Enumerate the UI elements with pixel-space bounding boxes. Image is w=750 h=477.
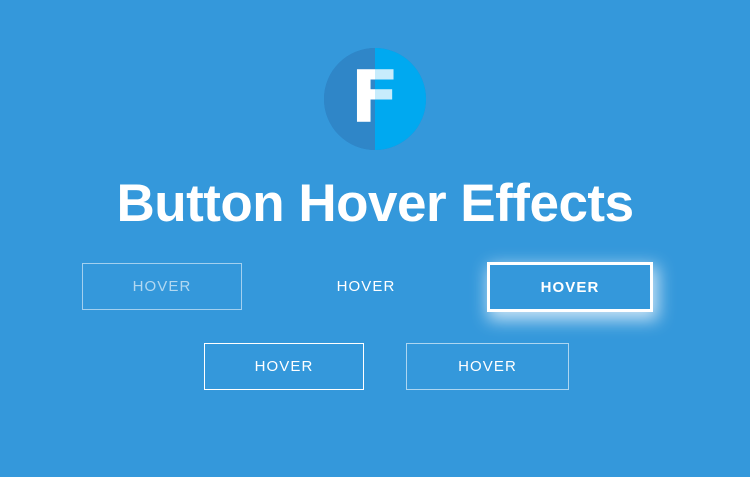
hover-button-active[interactable]: HOVER	[487, 262, 653, 312]
hover-button-ghost-label: HOVER	[133, 278, 192, 295]
hover-button-soft-outline-label: HOVER	[458, 358, 517, 375]
hover-button-soft-outline[interactable]: HOVER	[406, 343, 569, 390]
page-canvas: F Button Hover Effects HOVER HOVER HOVER…	[0, 0, 750, 477]
hover-button-solid-outline[interactable]: HOVER	[204, 343, 364, 390]
logo-container: F	[0, 48, 750, 150]
brand-logo-icon: F	[324, 48, 426, 150]
hover-button-borderless[interactable]: HOVER	[306, 263, 426, 310]
logo-letter: F	[324, 48, 426, 150]
page-title: Button Hover Effects	[0, 172, 750, 236]
hover-button-solid-outline-label: HOVER	[255, 358, 314, 375]
hover-button-active-label: HOVER	[541, 279, 600, 296]
hover-button-ghost[interactable]: HOVER	[82, 263, 242, 310]
hover-button-borderless-label: HOVER	[337, 278, 396, 295]
